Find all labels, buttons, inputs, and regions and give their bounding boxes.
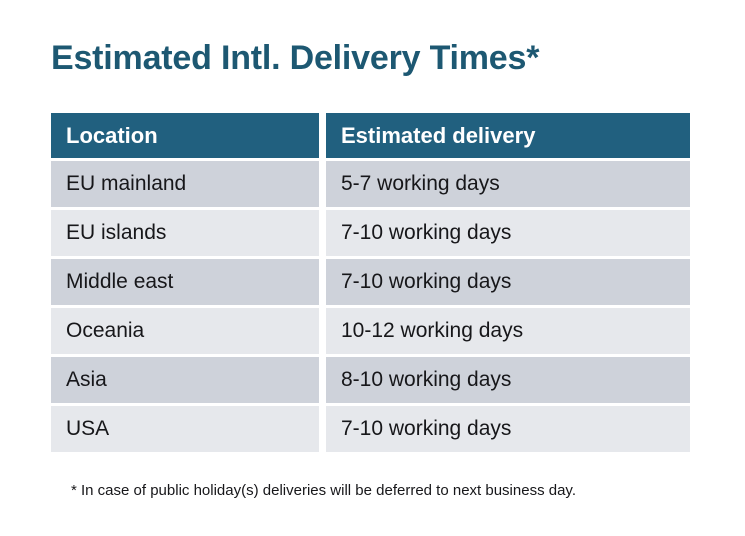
cell-location: Middle east	[51, 259, 319, 305]
page-title: Estimated Intl. Delivery Times*	[51, 36, 539, 80]
cell-location: USA	[51, 406, 319, 452]
cell-estimated-delivery: 8-10 working days	[326, 357, 690, 403]
table-row: USA 7-10 working days	[51, 406, 690, 452]
column-header-estimated-delivery: Estimated delivery	[326, 113, 690, 158]
footnote-text: * In case of public holiday(s) deliverie…	[71, 480, 576, 502]
cell-estimated-delivery: 5-7 working days	[326, 161, 690, 207]
cell-estimated-delivery: 7-10 working days	[326, 210, 690, 256]
column-header-location: Location	[51, 113, 319, 158]
table-header-row: Location Estimated delivery	[51, 113, 690, 158]
cell-location: Asia	[51, 357, 319, 403]
table-row: Middle east 7-10 working days	[51, 259, 690, 305]
table-row: Asia 8-10 working days	[51, 357, 690, 403]
cell-estimated-delivery: 7-10 working days	[326, 259, 690, 305]
table-row: EU islands 7-10 working days	[51, 210, 690, 256]
cell-location: EU mainland	[51, 161, 319, 207]
table-row: Oceania 10-12 working days	[51, 308, 690, 354]
cell-estimated-delivery: 10-12 working days	[326, 308, 690, 354]
delivery-times-page: Estimated Intl. Delivery Times* Location…	[0, 0, 745, 536]
table-row: EU mainland 5-7 working days	[51, 161, 690, 207]
cell-location: EU islands	[51, 210, 319, 256]
cell-estimated-delivery: 7-10 working days	[326, 406, 690, 452]
delivery-times-table: Location Estimated delivery EU mainland …	[51, 113, 690, 452]
cell-location: Oceania	[51, 308, 319, 354]
